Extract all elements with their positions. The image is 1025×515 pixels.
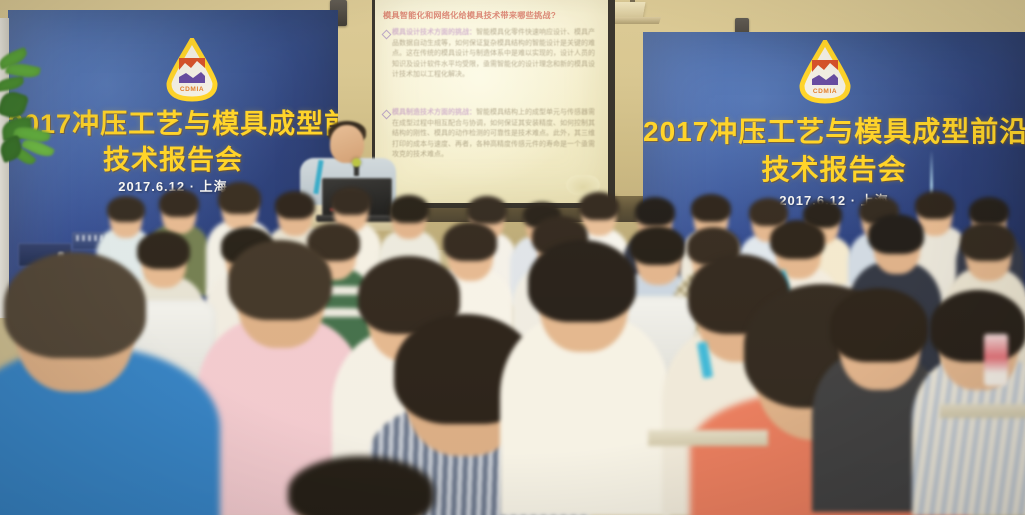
cdmia-logo-text: CDMIA — [163, 86, 221, 93]
banner-left-title-line1: 2017冲压工艺与模具成型前沿 — [8, 102, 338, 141]
banner-right-title-line1: 2017冲压工艺与模具成型前沿 — [643, 110, 1025, 150]
slide-title: 模具智能化和网络化给模具技术带来哪些挑战? — [383, 10, 601, 21]
slide-bullet-1-text: 智能模具化零件快速响应设计、模具产品数据自动生成等，如何保证复杂模具结构的智能设… — [392, 29, 595, 78]
desk — [648, 430, 768, 446]
microphone-icon — [352, 158, 361, 167]
slide-bullet-2: 模具制造技术方面的挑战：智能模具结构上的成型单元与传感器需在成型过程中相互配合与… — [392, 108, 600, 161]
slide-bullet-1-heading: 模具设计技术方面的挑战： — [392, 29, 476, 36]
banner-right-title-line2: 技术报告会 — [643, 148, 1025, 188]
cdmia-logo-text: CDMIA — [795, 88, 855, 95]
slide-bullet-2-heading: 模具制造技术方面的挑战： — [392, 109, 476, 116]
desk — [940, 404, 1025, 418]
banner-left-title-line2: 技术报告会 — [8, 138, 338, 177]
cdmia-logo-left: CDMIA — [163, 38, 221, 102]
conference-photo: 模具智能化和网络化给模具技术带来哪些挑战? 模具设计技术方面的挑战：智能模具化零… — [0, 0, 1025, 515]
presenter-head — [330, 125, 364, 163]
cdmia-logo-right: CDMIA — [795, 40, 855, 104]
projection-screen: 模具智能化和网络化给模具技术带来哪些挑战? 模具设计技术方面的挑战：智能模具化零… — [375, 0, 608, 203]
slide-bullet-1: 模具设计技术方面的挑战：智能模具化零件快速响应设计、模具产品数据自动生成等，如何… — [392, 28, 600, 81]
slide-bullet-2-text: 智能模具结构上的成型单元与传感器需在成型过程中相互配合与协调，如何保证其安装精度… — [392, 109, 595, 158]
